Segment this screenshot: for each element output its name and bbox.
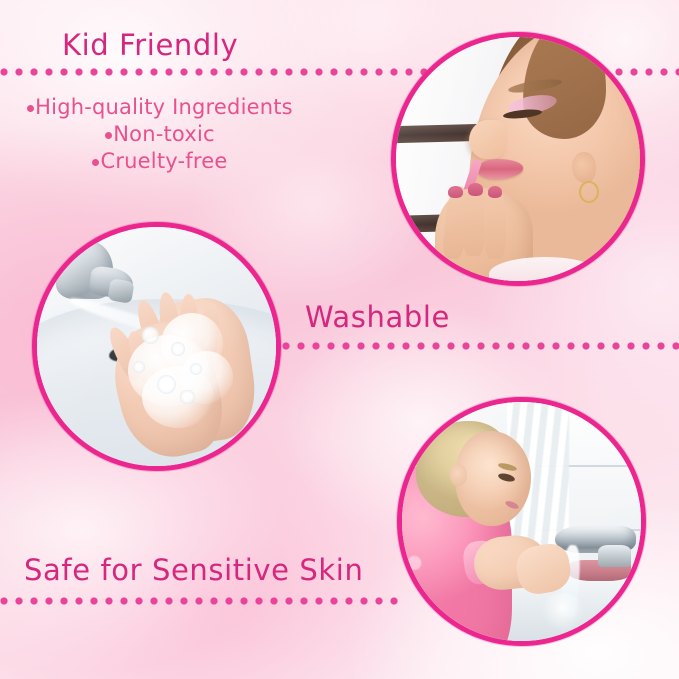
girl-applying-lip-gloss-photo — [391, 32, 645, 286]
soap-bubble — [190, 363, 202, 375]
dotted-rule-bottom — [0, 597, 404, 605]
faucet-base — [598, 545, 631, 567]
photo-content — [37, 227, 276, 466]
bullet-dot-icon — [27, 105, 34, 112]
soap-bubble — [157, 375, 176, 394]
girl-nose — [469, 120, 506, 159]
faucet-spout — [107, 278, 134, 303]
soapy-hands-under-tap-photo — [32, 222, 281, 471]
bullet-dot-icon — [92, 159, 99, 166]
kid-friendly-bullet-list: High-quality Ingredients Non-toxic Cruel… — [0, 94, 320, 175]
bullet-item-high-quality-ingredients: High-quality Ingredients — [0, 94, 320, 121]
soap-bubble — [180, 390, 194, 404]
photo-content — [396, 37, 640, 281]
girl-ear — [572, 152, 596, 184]
toddler-ear — [450, 464, 467, 486]
soap-bubble — [171, 342, 185, 356]
photo-content — [402, 402, 641, 641]
bullet-dot-icon — [105, 132, 112, 139]
girl-earring — [579, 181, 599, 203]
painted-nail — [488, 186, 503, 198]
girl-collar — [489, 257, 601, 286]
dotted-rule-middle — [282, 342, 679, 350]
bullet-label: Non-toxic — [113, 122, 215, 146]
soap-bubble — [133, 361, 145, 373]
infographic-canvas: Kid Friendly High-quality Ingredients No… — [0, 0, 679, 679]
bullet-label: Cruelty-free — [100, 149, 227, 173]
water-splash — [541, 593, 584, 631]
bullet-label: High-quality Ingredients — [35, 95, 293, 119]
painted-nail — [468, 183, 483, 195]
heading-kid-friendly: Kid Friendly — [62, 28, 238, 62]
bullet-item-cruelty-free: Cruelty-free — [0, 148, 320, 175]
soap-bubble — [142, 327, 159, 344]
heading-safe-for-sensitive-skin: Safe for Sensitive Skin — [24, 553, 363, 587]
bullet-item-non-toxic: Non-toxic — [0, 121, 320, 148]
toddler-washing-hands-photo — [397, 397, 646, 646]
heading-washable: Washable — [305, 300, 450, 334]
painted-nail — [448, 186, 463, 198]
